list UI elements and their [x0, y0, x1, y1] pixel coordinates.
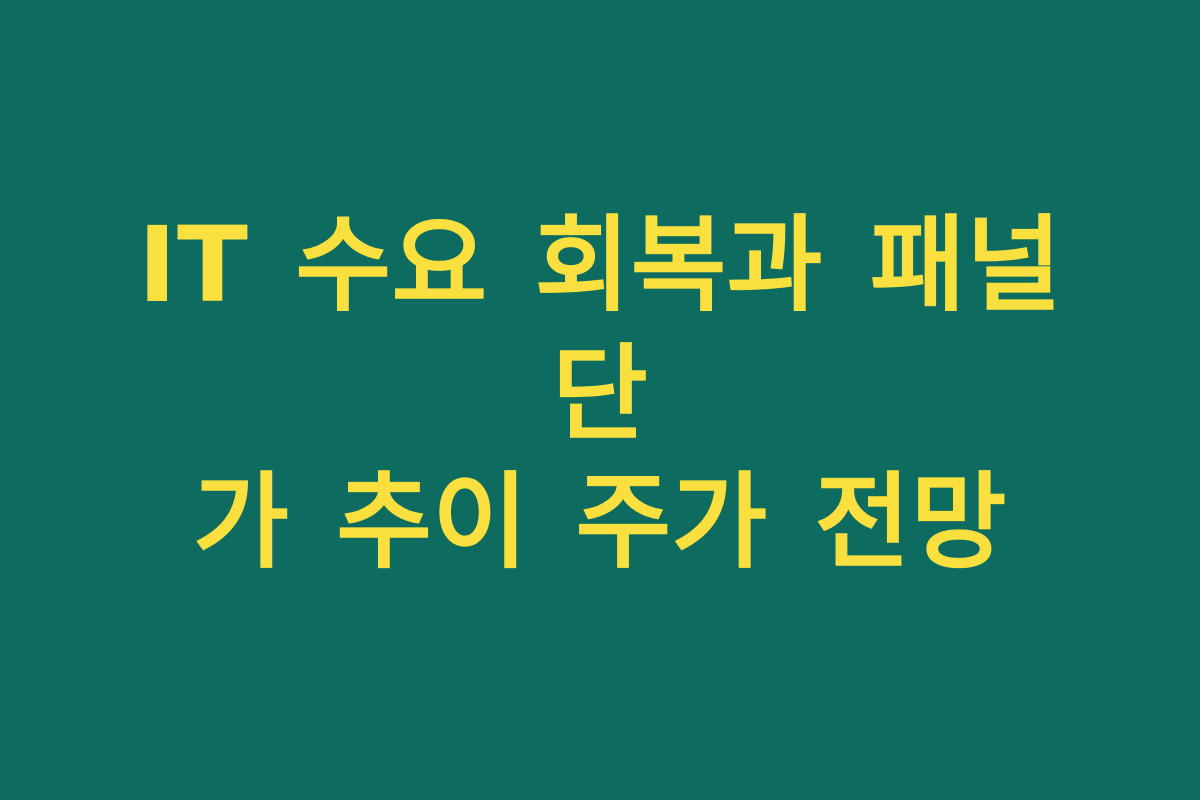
headline-block: IT 수요 회복과 패널 단 가 추이 주가 전망: [95, 201, 1105, 588]
title-card: IT 수요 회복과 패널 단 가 추이 주가 전망: [0, 0, 1200, 800]
headline-text: IT 수요 회복과 패널 단 가 추이 주가 전망: [95, 201, 1105, 588]
